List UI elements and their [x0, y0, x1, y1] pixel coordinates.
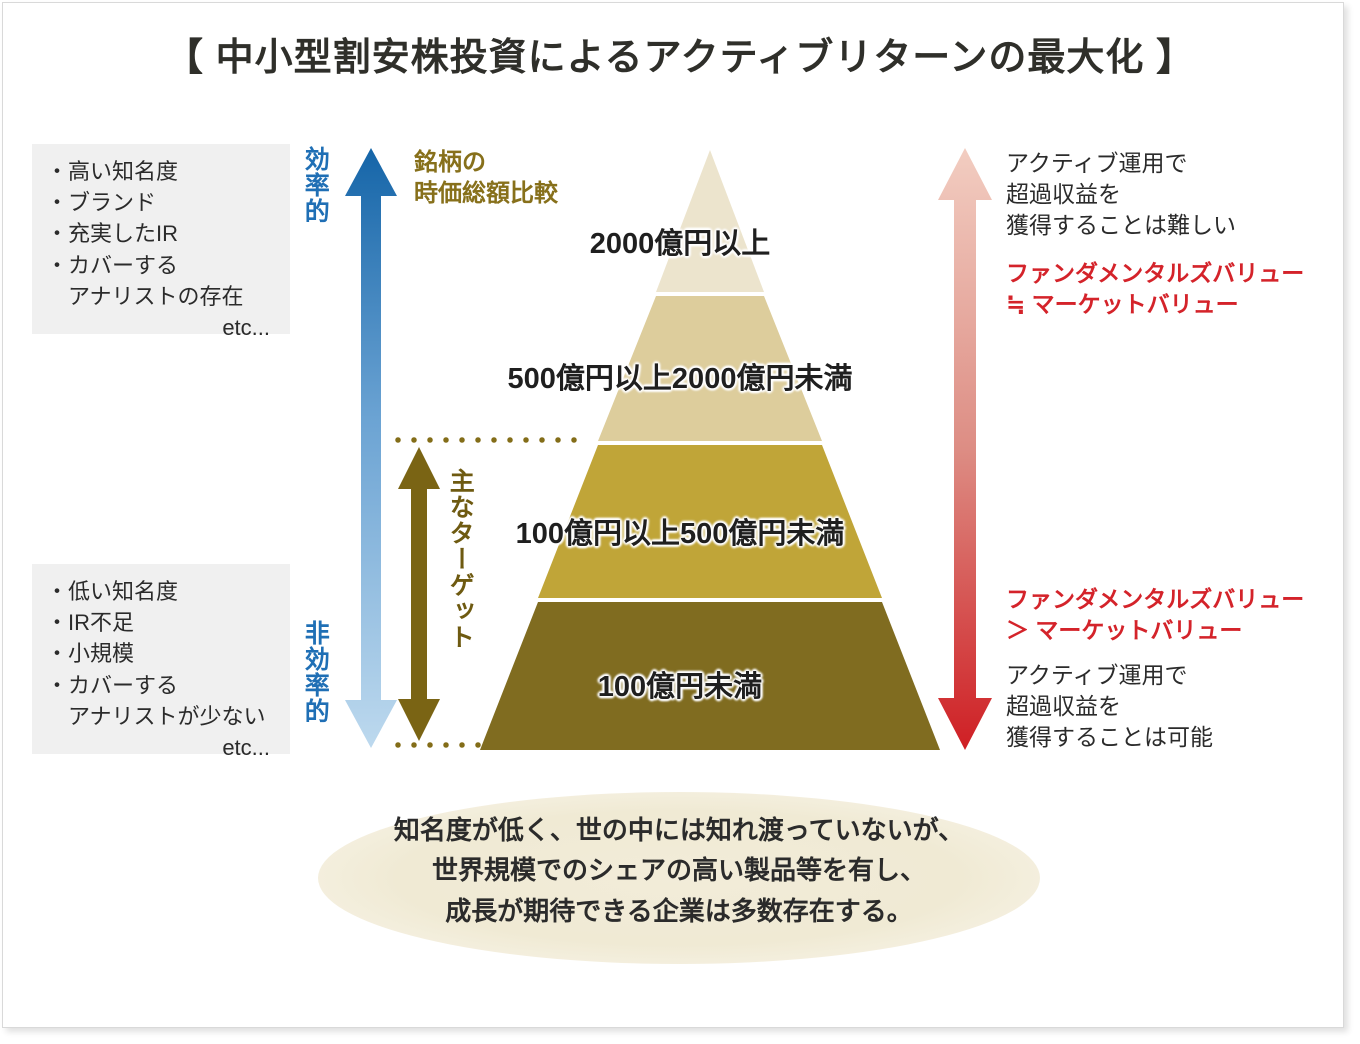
info-etc: etc...	[46, 732, 276, 763]
footer-note: 知名度が低く、世の中には知れ渡っていないが、 世界規模でのシェアの高い製品等を有…	[318, 810, 1040, 931]
diagram-canvas: 【 中小型割安株投資によるアクティブリターンの最大化 】 ・高い知名度 ・ブラン…	[0, 0, 1360, 1044]
info-box-small-cap: ・低い知名度 ・IR不足 ・小規模 ・カバーする アナリストが少ない etc..…	[32, 564, 290, 754]
pyramid-tier-3-label: 100億円以上500億円未満	[0, 510, 1360, 552]
right-note-top-dark: アクティブ運用で 超過収益を 獲得することは難しい	[1006, 148, 1236, 241]
info-line: ・IR不足	[46, 607, 276, 638]
info-line: アナリストが少ない	[46, 701, 276, 732]
active-return-double-arrow-icon	[938, 148, 992, 750]
efficiency-label-top: 効率的	[302, 146, 328, 224]
info-line: アナリストの存在	[46, 281, 276, 312]
info-line: ・ブランド	[46, 187, 276, 218]
right-note-top-red: ファンダメンタルズバリュー ≒ マーケットバリュー	[1006, 258, 1304, 320]
info-line: ・低い知名度	[46, 576, 276, 607]
info-line: ・高い知名度	[46, 156, 276, 187]
pyramid-tier-2-label: 500億円以上2000億円未満	[0, 355, 1360, 397]
right-note-bottom-red: ファンダメンタルズバリュー ＞ マーケットバリュー	[1006, 584, 1304, 646]
info-etc: etc...	[46, 312, 276, 343]
page-title: 【 中小型割安株投資によるアクティブリターンの最大化 】	[0, 26, 1360, 81]
right-note-bottom-dark: アクティブ運用で 超過収益を 獲得することは可能	[1006, 660, 1213, 753]
